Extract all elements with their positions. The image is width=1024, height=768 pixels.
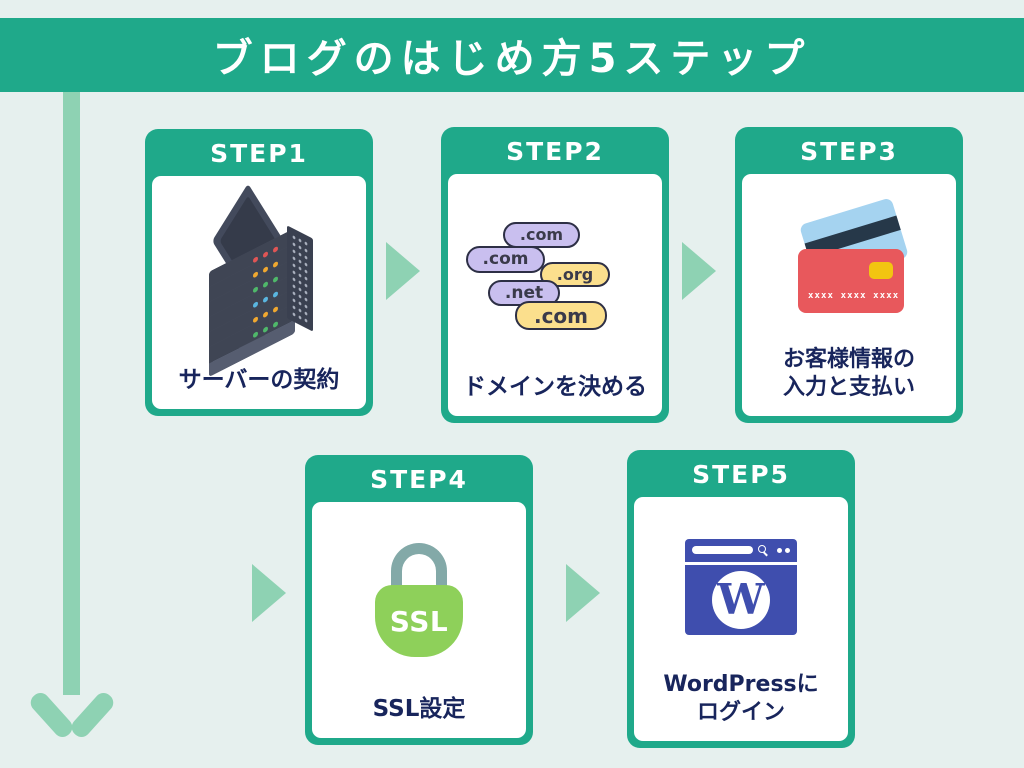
step-icon-area-2: .com.com.org.net.com <box>456 180 654 373</box>
card-chip-icon <box>869 262 893 279</box>
browser-dot-2 <box>785 548 790 553</box>
step-badge-5: STEP5 <box>692 457 790 497</box>
step-card-4[interactable]: STEP4 SSL SSL設定 <box>305 455 533 745</box>
step-card-body-2: .com.com.org.net.com ドメインを決める <box>448 174 662 416</box>
right-triangle-arrow-1-2 <box>386 242 420 300</box>
header-banner: ブログのはじめ方5ステップ <box>0 18 1024 92</box>
padlock-body: SSL <box>375 585 463 657</box>
browser-viewport: W <box>685 565 797 635</box>
step-title-3: お客様情報の 入力と支払い <box>783 346 915 406</box>
step-title-2: ドメインを決める <box>463 373 647 406</box>
step-card-body-1: サーバーの契約 <box>152 176 366 409</box>
step-card-3[interactable]: STEP3 xxxx xxxx xxxx お客様情報の 入力と支払い <box>735 127 963 423</box>
credit-card-front: xxxx xxxx xxxx <box>798 249 904 313</box>
step-badge-4: STEP4 <box>370 462 468 502</box>
step-title-4: SSL設定 <box>373 695 466 728</box>
arrow-head-left-stroke <box>27 689 76 740</box>
browser-dot-1 <box>777 548 782 553</box>
credit-cards-icon: xxxx xxxx xxxx <box>784 208 914 318</box>
server-rack-icon <box>201 206 317 341</box>
padlock-ssl-text: SSL <box>390 605 448 638</box>
step-title-5-line2: ログイン <box>697 700 785 725</box>
domain-pill-5: .com <box>515 301 607 330</box>
step-title-1: サーバーの契約 <box>179 366 340 399</box>
step-title-3-line1: お客様情報の <box>783 347 915 372</box>
step-card-body-5: W WordPressに ログイン <box>634 497 848 741</box>
ssl-padlock-icon: SSL <box>367 541 471 661</box>
right-triangle-arrow-3-4 <box>252 564 286 622</box>
right-triangle-arrow-2-3 <box>682 242 716 300</box>
search-icon <box>758 545 769 556</box>
step-title-3-line2: 入力と支払い <box>783 375 915 400</box>
step-icon-area-4: SSL <box>320 508 518 695</box>
step-badge-1: STEP1 <box>210 136 308 176</box>
step-title-5: WordPressに ログイン <box>663 671 818 731</box>
card-number-mask: xxxx xxxx xxxx <box>808 291 899 301</box>
step-badge-3: STEP3 <box>800 134 898 174</box>
browser-address-bar <box>692 546 753 554</box>
downward-flow-arrow-shaft <box>63 92 80 695</box>
arrow-head-right-stroke <box>68 689 117 740</box>
server-side-panel <box>287 226 313 332</box>
downward-flow-arrow-head <box>33 686 111 758</box>
step-card-body-3: xxxx xxxx xxxx お客様情報の 入力と支払い <box>742 174 956 416</box>
browser-toolbar <box>685 539 797 562</box>
wordpress-browser-icon: W <box>685 539 797 635</box>
step-card-1[interactable]: STEP1 <box>145 129 373 416</box>
step-icon-area-1 <box>160 182 358 366</box>
step-card-body-4: SSL SSL設定 <box>312 502 526 738</box>
step-badge-2: STEP2 <box>506 134 604 174</box>
wordpress-logo-icon: W <box>712 571 770 629</box>
right-triangle-arrow-4-5 <box>566 564 600 622</box>
step-card-5[interactable]: STEP5 W WordPressに ログイン <box>627 450 855 748</box>
domain-tags-icon: .com.com.org.net.com <box>466 222 644 330</box>
step-icon-area-3: xxxx xxxx xxxx <box>750 180 948 346</box>
step-card-2[interactable]: STEP2 .com.com.org.net.com ドメインを決める <box>441 127 669 423</box>
page-title: ブログのはじめ方5ステップ <box>213 26 812 84</box>
step-icon-area-5: W <box>642 503 840 671</box>
step-title-5-line1: WordPressに <box>663 672 818 697</box>
domain-pill-1: .com <box>503 222 580 248</box>
domain-pill-2: .com <box>466 246 545 273</box>
